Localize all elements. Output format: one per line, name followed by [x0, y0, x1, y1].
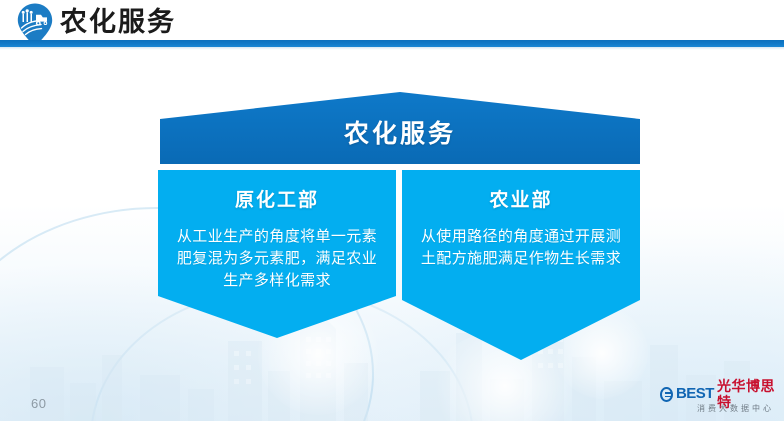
- diagram-column-left-body: 从工业生产的角度将单一元素肥复混为多元素肥，满足农业生产多样化需求: [158, 226, 396, 292]
- diagram-banner: 农化服务: [150, 92, 650, 172]
- agro-service-diagram: 农化服务 原化工部 从工业生产的角度将单一元素肥复混为多元素肥，满足农业生产多样…: [150, 92, 650, 372]
- diagram-column-right-title: 农业部: [402, 188, 640, 214]
- diagram-column-left-title: 原化工部: [158, 188, 396, 214]
- diagram-column-left-text: 原化工部 从工业生产的角度将单一元素肥复混为多元素肥，满足农业生产多样化需求: [158, 170, 396, 292]
- diagram-banner-label: 农化服务: [150, 118, 650, 150]
- page-number: 60: [31, 396, 46, 411]
- diagram-column-right-text: 农业部 从使用路径的角度通过开展测土配方施肥满足作物生长需求: [402, 170, 640, 270]
- diagram-column-right-body: 从使用路径的角度通过开展测土配方施肥满足作物生长需求: [402, 226, 640, 270]
- corporate-logo: BEST 光华博思特 消费大数据中心: [660, 385, 776, 415]
- slide: 农化服务 农化服务 原化工部: [0, 0, 784, 421]
- header-rule-shadow: [0, 47, 784, 50]
- best-circle-icon: [660, 387, 673, 402]
- page-title: 农化服务: [60, 4, 176, 40]
- corporate-logo-subtitle: 消费大数据中心: [660, 403, 776, 415]
- header-rule: [0, 40, 784, 47]
- slide-header: 农化服务: [0, 0, 784, 48]
- corporate-logo-latin: BEST: [676, 386, 714, 402]
